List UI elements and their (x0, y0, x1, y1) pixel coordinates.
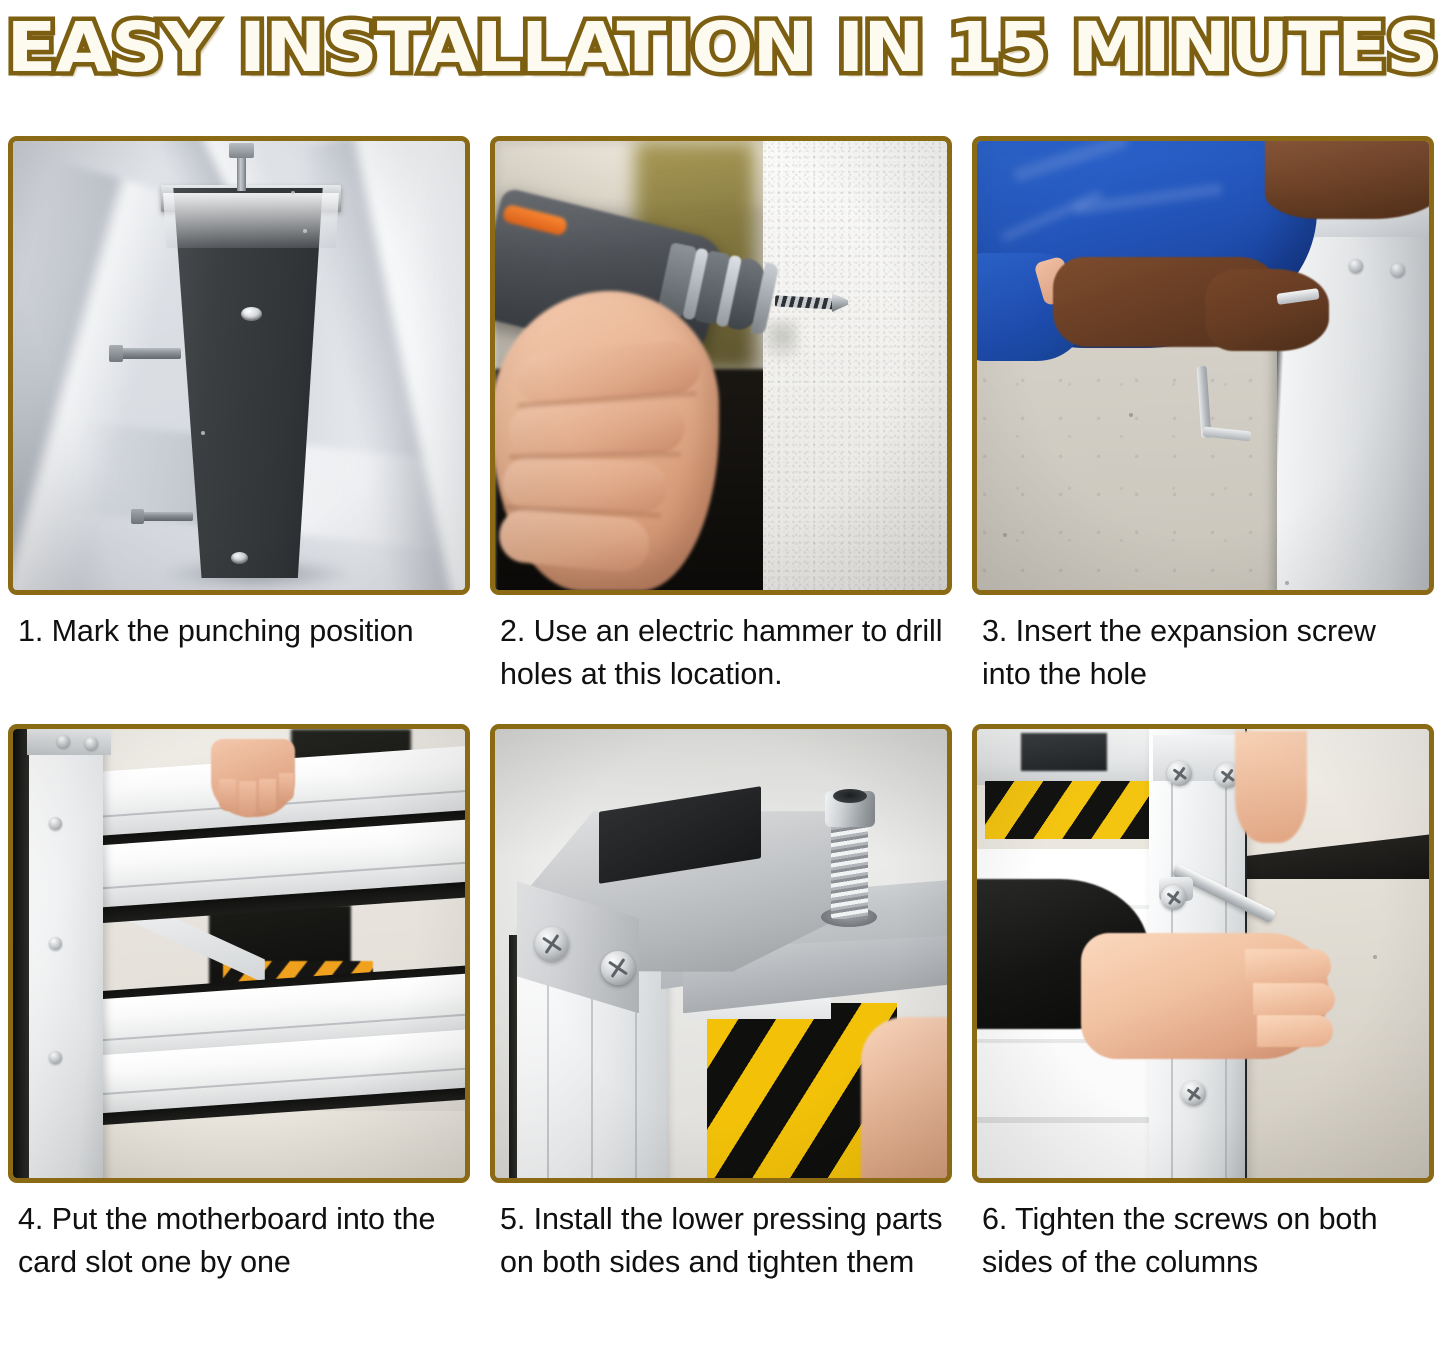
photo-insert-expansion-screw (977, 141, 1429, 590)
steps-row-top: 1. Mark the punching position (0, 136, 1445, 695)
step-caption-3: 3. Insert the expansion screw into the h… (972, 610, 1435, 695)
step-caption-6: 6. Tighten the screws on both sides of t… (972, 1198, 1435, 1283)
step-card-5: 5. Install the lower pressing parts on b… (490, 724, 953, 1283)
step-photo-3 (972, 136, 1434, 595)
step-caption-5: 5. Install the lower pressing parts on b… (490, 1198, 953, 1283)
step-photo-4 (8, 724, 470, 1183)
photo-insert-boards-card-slot (13, 729, 465, 1178)
step-photo-1 (8, 136, 470, 595)
step-caption-1: 1. Mark the punching position (8, 610, 471, 653)
steps-row-bottom: 4. Put the motherboard into the card slo… (0, 724, 1445, 1283)
title-banner: EASY INSTALLATION IN 15 MINUTES (0, 0, 1445, 92)
step-photo-6 (972, 724, 1434, 1183)
step-card-6: 6. Tighten the screws on both sides of t… (972, 724, 1435, 1283)
photo-tighten-column-screws (977, 729, 1429, 1178)
photo-mark-punching-position (13, 141, 465, 590)
step-card-4: 4. Put the motherboard into the card slo… (8, 724, 471, 1283)
page-title: EASY INSTALLATION IN 15 MINUTES (7, 14, 1438, 83)
step-card-3: 3. Insert the expansion screw into the h… (972, 136, 1435, 695)
photo-install-lower-pressing-parts (495, 729, 947, 1178)
photo-drill-holes (495, 141, 947, 590)
installation-infographic: EASY INSTALLATION IN 15 MINUTES (0, 0, 1445, 1352)
step-photo-2 (490, 136, 952, 595)
step-card-2: 2. Use an electric hammer to drill holes… (490, 136, 953, 695)
step-caption-4: 4. Put the motherboard into the card slo… (8, 1198, 471, 1283)
step-caption-2: 2. Use an electric hammer to drill holes… (490, 610, 953, 695)
step-photo-5 (490, 724, 952, 1183)
step-card-1: 1. Mark the punching position (8, 136, 471, 695)
steps-grid: 1. Mark the punching position (0, 136, 1445, 1284)
